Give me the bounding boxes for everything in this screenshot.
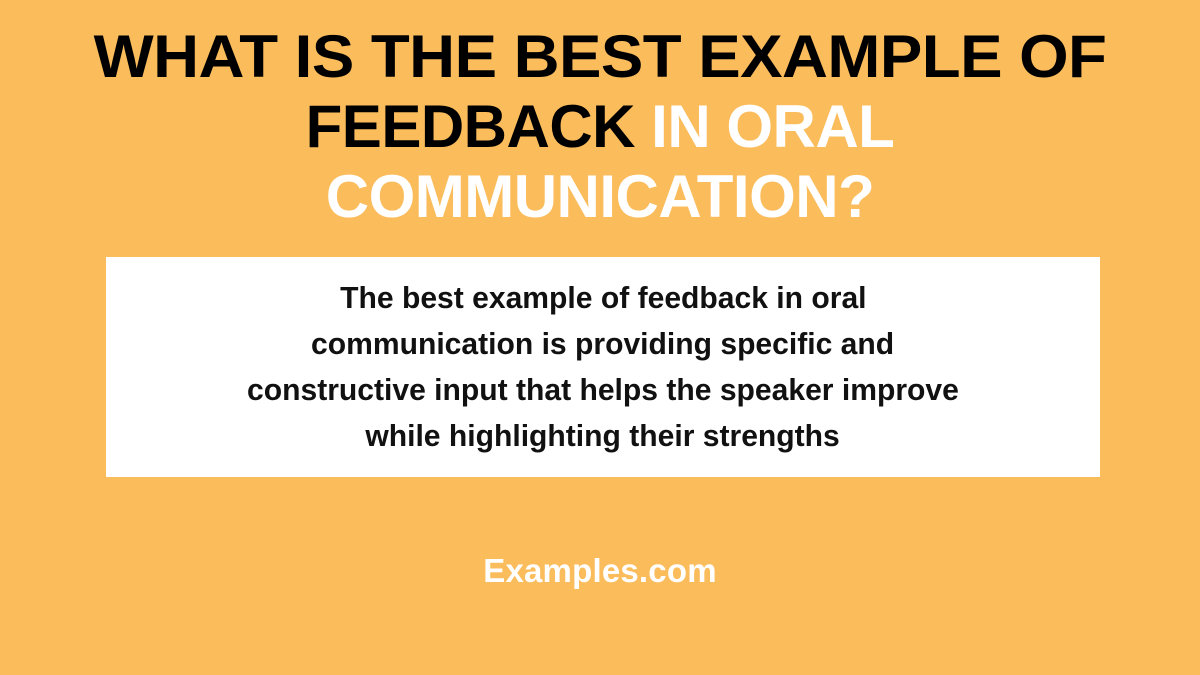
title-line-3: COMMUNICATION? [20, 162, 1180, 232]
answer-card: The best example of feedback in oral com… [106, 257, 1100, 477]
answer-line-3: constructive input that helps the speake… [247, 367, 959, 413]
brand-name: Examples.com [483, 552, 717, 589]
page-title: WHAT IS THE BEST EXAMPLE OF FEEDBACK IN … [20, 22, 1180, 232]
title-line-2: FEEDBACK IN ORAL [20, 92, 1180, 162]
title-line-2-light-segment: IN ORAL [651, 93, 894, 160]
slide-canvas: WHAT IS THE BEST EXAMPLE OF FEEDBACK IN … [0, 0, 1200, 675]
answer-line-2: communication is providing specific and [311, 321, 894, 367]
title-line-2-dark-segment: FEEDBACK [306, 93, 635, 160]
answer-line-1: The best example of feedback in oral [340, 275, 866, 321]
brand-footer: Examples.com [0, 552, 1200, 590]
title-line-2-spacer [635, 93, 651, 160]
answer-line-4: while highlighting their strengths [366, 413, 840, 459]
title-line-1: WHAT IS THE BEST EXAMPLE OF [0, 22, 1200, 92]
